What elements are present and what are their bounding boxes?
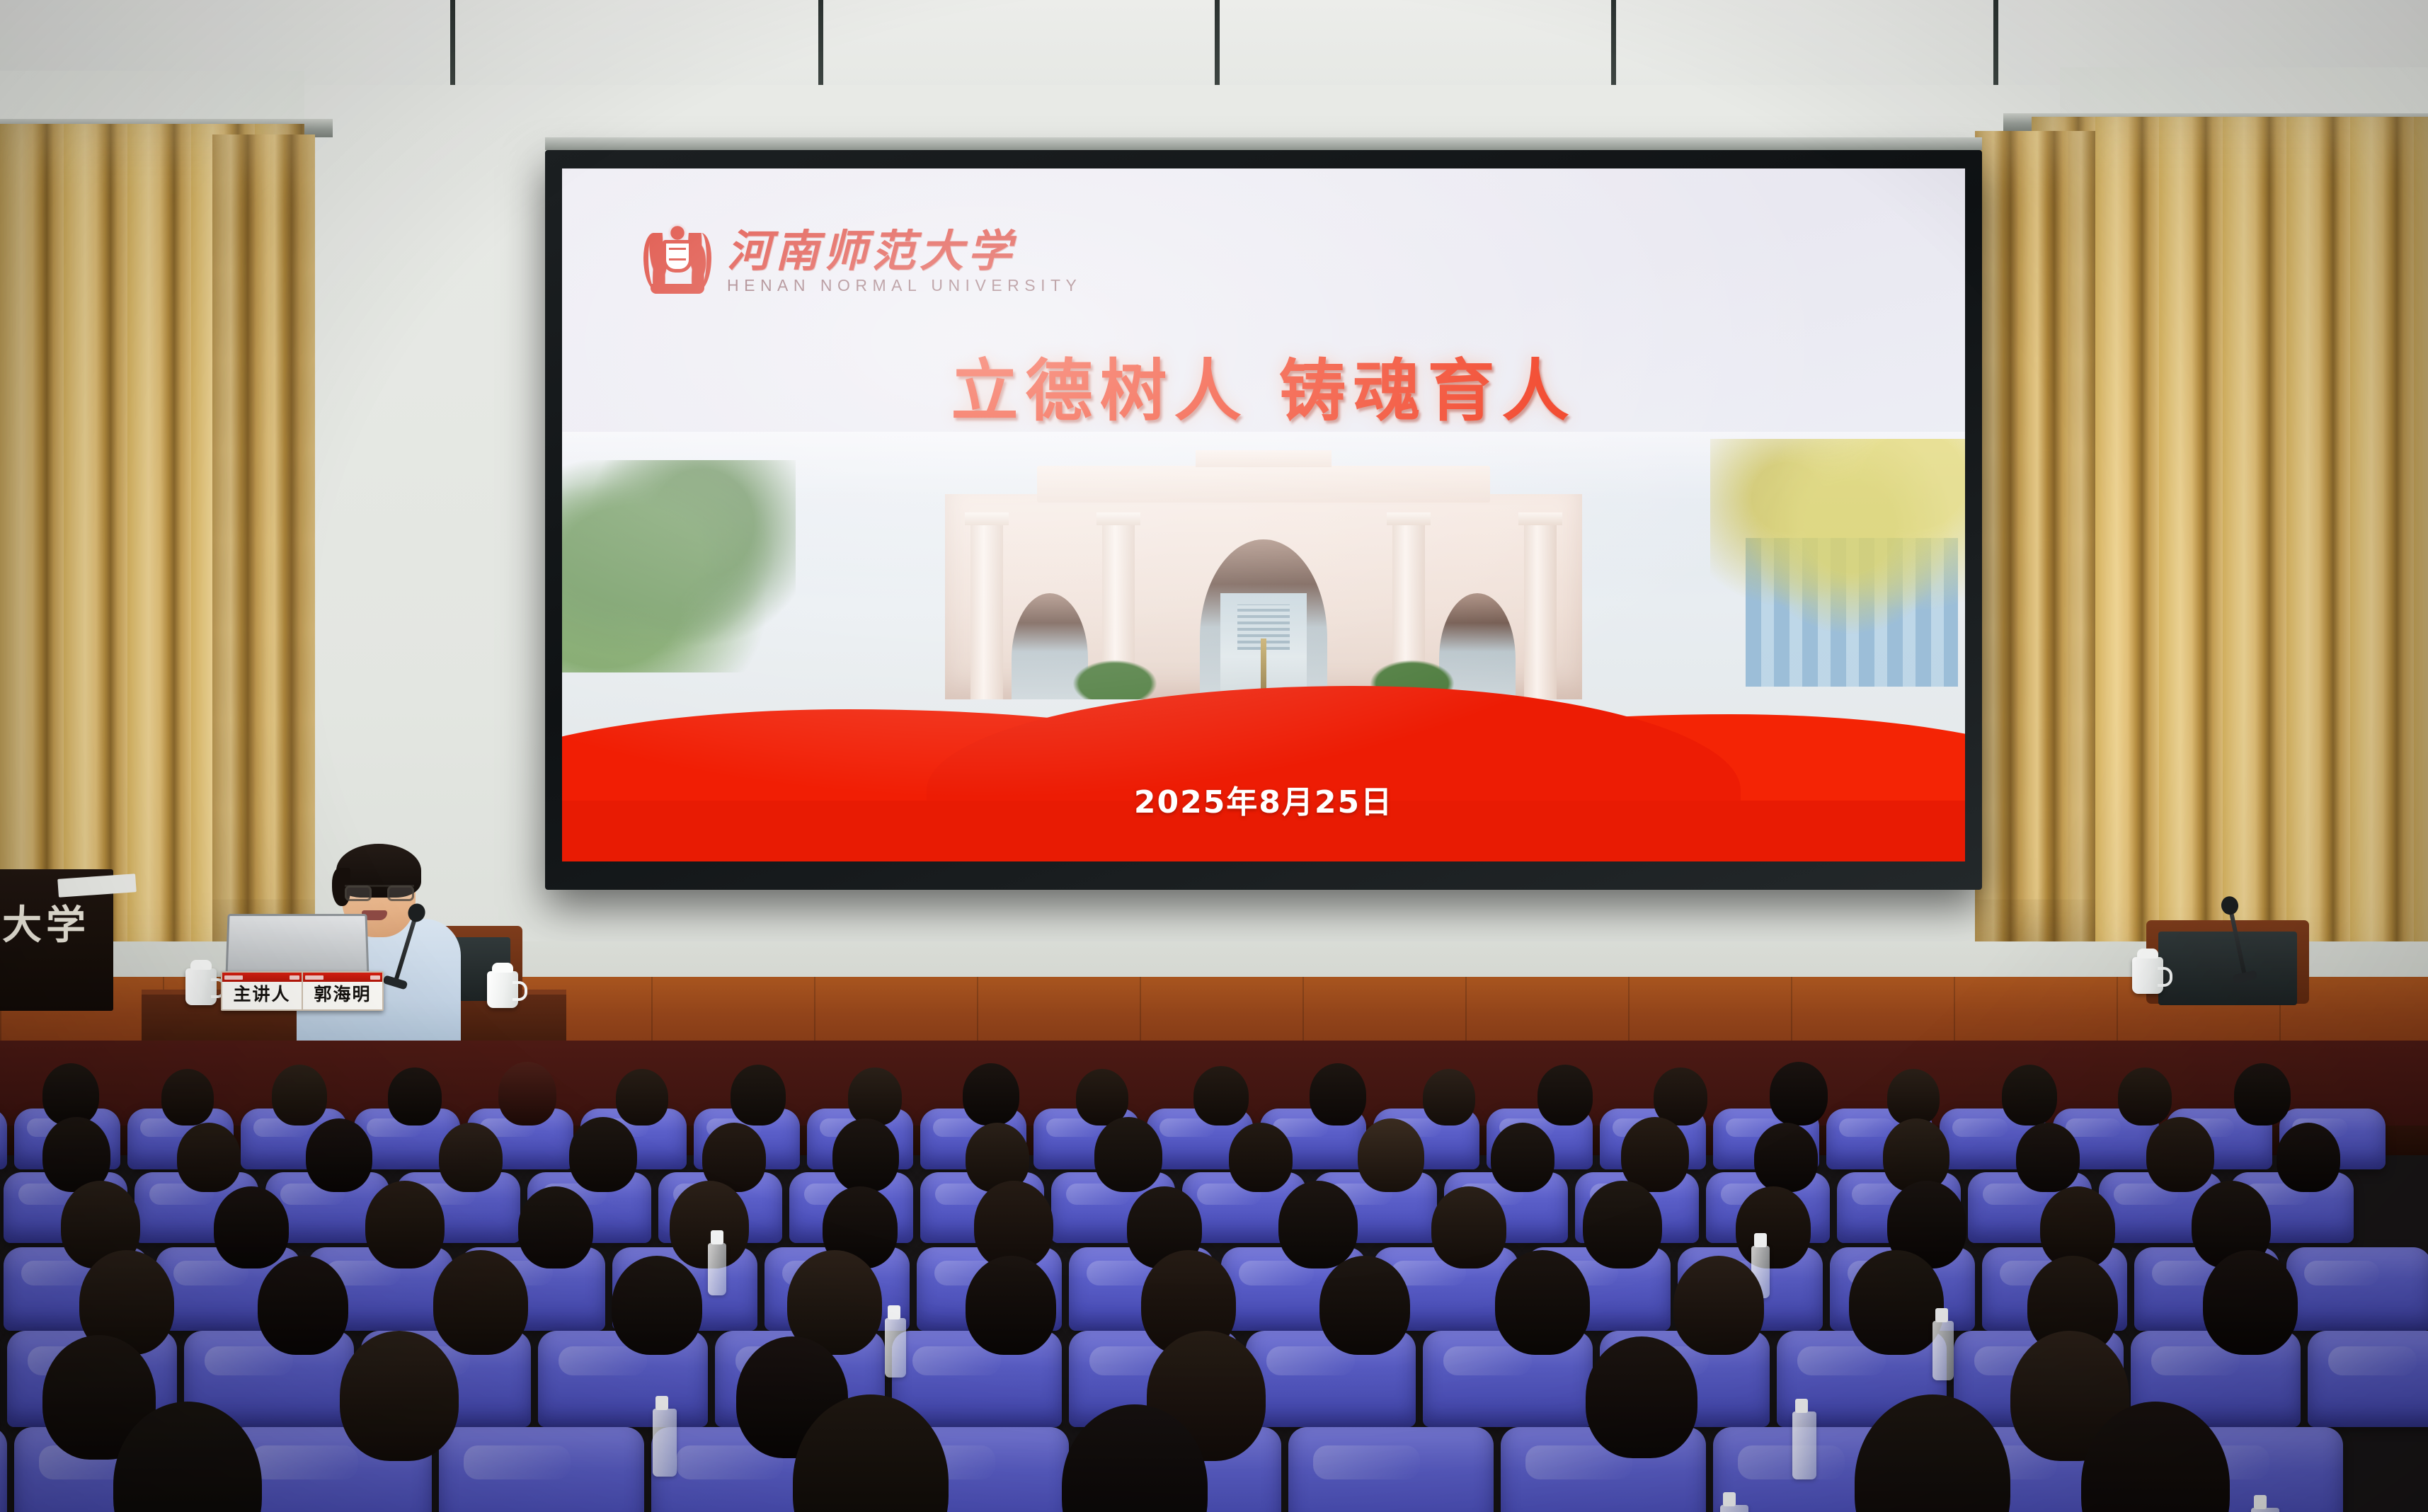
audience-head: [1754, 1123, 1818, 1192]
speaker-nameplate: 主讲人 郭海明: [221, 971, 384, 1011]
audience-head: [1621, 1117, 1689, 1192]
audience-head: [1358, 1118, 1424, 1192]
audience-head: [2016, 1123, 2080, 1192]
audience-head: [612, 1256, 702, 1355]
nameplate-name: 郭海明: [314, 980, 371, 1009]
audience-head: [2146, 1117, 2214, 1192]
audience-head: [1887, 1069, 1940, 1126]
audience-head: [365, 1181, 445, 1268]
audience-head: [1654, 1067, 1707, 1126]
university-logo: 河南师范大学 HENAN NORMAL UNIVERSITY: [643, 222, 1082, 295]
audience-head: [1770, 1062, 1828, 1126]
campus-gate-photo: 2025年8月25日: [562, 432, 1965, 861]
audience-head: [340, 1331, 459, 1461]
audience-head: [1229, 1123, 1293, 1192]
audience-head: [1423, 1069, 1475, 1126]
audience-head: [272, 1065, 327, 1126]
audience-head: [42, 1063, 99, 1126]
tree-foliage-right: [1710, 439, 1965, 672]
audience-head: [1076, 1069, 1128, 1126]
audience-head: [1495, 1250, 1590, 1355]
teacup-left: [185, 968, 217, 1005]
audience-head: [1431, 1186, 1506, 1268]
audience-head: [306, 1118, 372, 1192]
tree-foliage-left: [562, 460, 796, 672]
water-bottle: [885, 1318, 906, 1378]
audience-area: [0, 1041, 2428, 1512]
audience-head: [518, 1186, 593, 1268]
audience-head: [1673, 1256, 1764, 1355]
audience-head: [731, 1065, 786, 1126]
podium-sign-label: 大学: [0, 888, 109, 956]
audience-head: [966, 1256, 1056, 1355]
nameplate-role: 主讲人: [233, 980, 290, 1009]
audience-head: [1491, 1123, 1554, 1192]
glasses-icon: [345, 885, 414, 900]
audience-head: [616, 1069, 668, 1126]
water-bottle: [2251, 1508, 2279, 1512]
audience-head: [439, 1123, 503, 1192]
presentation-slide[interactable]: 河南师范大学 HENAN NORMAL UNIVERSITY 立德树人 铸魂育人…: [562, 168, 1965, 861]
teacup-right: [2132, 957, 2163, 994]
laptop[interactable]: [225, 914, 369, 978]
university-crest-icon: [643, 222, 711, 295]
audience-head: [177, 1123, 241, 1192]
chair-empty-right: [2146, 920, 2309, 1004]
audience-head: [258, 1256, 348, 1355]
university-name-en: HENAN NORMAL UNIVERSITY: [727, 276, 1082, 295]
audience-head: [2277, 1123, 2340, 1192]
audience-head: [832, 1118, 899, 1192]
led-screen-frame: 河南师范大学 HENAN NORMAL UNIVERSITY 立德树人 铸魂育人…: [545, 150, 1982, 890]
audience-head: [1094, 1117, 1162, 1192]
water-bottle: [653, 1409, 677, 1477]
slide-date: 2025年8月25日: [562, 777, 1965, 822]
water-bottle: [1792, 1411, 1816, 1479]
audience-head: [848, 1067, 902, 1126]
audience-head: [388, 1067, 442, 1126]
curtain-right-inner: [1975, 131, 2095, 980]
audience-head: [214, 1186, 289, 1268]
water-bottle: [1720, 1505, 1748, 1512]
audience-head: [1586, 1336, 1697, 1458]
audience-head: [1849, 1250, 1944, 1355]
audience-head: [1278, 1181, 1358, 1268]
audience-head: [963, 1063, 1019, 1126]
audience-head: [433, 1250, 528, 1355]
audience-head: [498, 1062, 556, 1126]
audience-head: [1193, 1066, 1249, 1126]
audience-head: [1583, 1181, 1662, 1268]
audience-head: [1883, 1118, 1949, 1192]
lecture-hall-scene: 河南师范大学 HENAN NORMAL UNIVERSITY 立德树人 铸魂育人…: [0, 0, 2428, 1512]
red-ribbon-waves: [562, 649, 1965, 861]
podium: 大学: [0, 869, 113, 1011]
audience-head: [1537, 1065, 1593, 1126]
university-name-cn: 河南师范大学: [727, 229, 1082, 273]
audience-head: [1319, 1256, 1410, 1355]
slide-title: 立德树人 铸魂育人: [562, 337, 1965, 434]
water-bottle: [1932, 1321, 1954, 1380]
teacup-center: [487, 971, 518, 1008]
audience-head: [2203, 1250, 2298, 1355]
audience-head: [1736, 1186, 1811, 1268]
audience-head: [2002, 1065, 2057, 1126]
audience-head: [161, 1069, 214, 1126]
audience-head: [1310, 1063, 1366, 1126]
audience-head: [2118, 1067, 2172, 1126]
water-bottle: [708, 1243, 726, 1295]
audience-head: [569, 1117, 637, 1192]
audience-head: [2234, 1063, 2291, 1126]
